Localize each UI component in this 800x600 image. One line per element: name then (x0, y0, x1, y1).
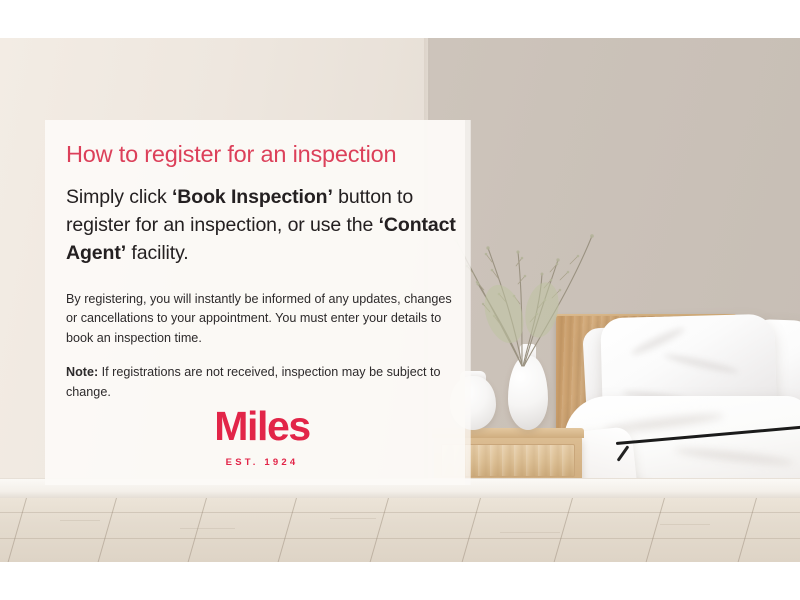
bedroom-photograph: How to register for an inspection Simply… (0, 38, 800, 562)
lede-paragraph: Simply click ‘Book Inspection’ button to… (66, 184, 458, 268)
screenshot-canvas: How to register for an inspection Simply… (0, 0, 800, 600)
information-card: How to register for an inspection Simply… (45, 120, 465, 485)
logo-established-line: EST. 1924 (66, 457, 458, 468)
brand-logo: Miles EST. 1924 (66, 406, 458, 468)
pillow-crease (664, 352, 740, 376)
logo-wordmark: Miles (66, 406, 458, 447)
card-edge-highlight (465, 120, 471, 485)
note-text: If registrations are not received, inspe… (66, 365, 441, 399)
lede-part-3: facility. (126, 242, 189, 264)
tall-vase (508, 356, 548, 430)
page-title: How to register for an inspection (66, 120, 458, 168)
pillow-crease (630, 325, 686, 358)
note-label: Note: (66, 365, 98, 379)
book-inspection-emphasis: ‘Book Inspection’ (172, 186, 333, 208)
duvet-crease (674, 446, 794, 467)
lede-part-1: Simply click (66, 186, 172, 208)
registration-info-paragraph: By registering, you will instantly be in… (66, 290, 458, 349)
note-paragraph: Note: If registrations are not received,… (66, 363, 458, 402)
wood-floor (0, 498, 800, 562)
